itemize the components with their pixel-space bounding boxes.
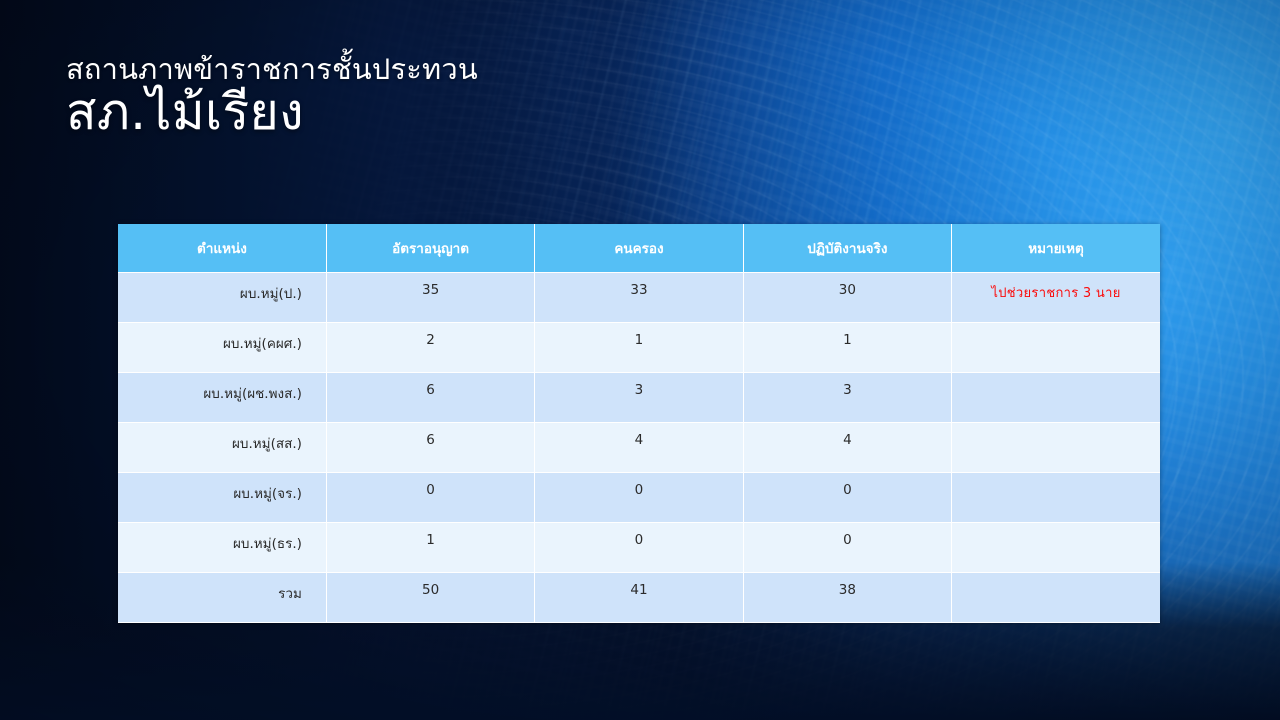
column-header-position: ตำแหน่ง xyxy=(118,224,326,272)
slide-subtitle: สถานภาพข้าราชการชั้นประทวน xyxy=(66,52,478,86)
cell-filled: 33 xyxy=(535,272,743,322)
cell-remarks xyxy=(952,422,1160,472)
column-header-remarks: หมายเหตุ xyxy=(952,224,1160,272)
cell-allowed: 1 xyxy=(326,522,534,572)
cell-filled: 41 xyxy=(535,572,743,622)
table-row: ผบ.หมู่(ธร.)100 xyxy=(118,522,1160,572)
slide-title: สภ.ไม้เรียง xyxy=(66,84,478,142)
table-row: รวม504138 xyxy=(118,572,1160,622)
cell-actual-duty: 1 xyxy=(743,322,951,372)
cell-position: ผบ.หมู่(คผศ.) xyxy=(118,322,326,372)
column-header-filled: คนครอง xyxy=(535,224,743,272)
title-block: สถานภาพข้าราชการชั้นประทวน สภ.ไม้เรียง xyxy=(66,52,478,142)
personnel-table: ตำแหน่ง อัตราอนุญาต คนครอง ปฏิบัติงานจริ… xyxy=(118,224,1160,623)
cell-filled: 4 xyxy=(535,422,743,472)
cell-filled: 1 xyxy=(535,322,743,372)
cell-remarks xyxy=(952,472,1160,522)
cell-allowed: 2 xyxy=(326,322,534,372)
cell-position: ผบ.หมู่(ผช.พงส.) xyxy=(118,372,326,422)
cell-position: ผบ.หมู่(ธร.) xyxy=(118,522,326,572)
personnel-table-container: ตำแหน่ง อัตราอนุญาต คนครอง ปฏิบัติงานจริ… xyxy=(118,224,1160,623)
slide-canvas: สถานภาพข้าราชการชั้นประทวน สภ.ไม้เรียง ต… xyxy=(0,0,1280,720)
cell-position: ผบ.หมู่(ป.) xyxy=(118,272,326,322)
cell-position: ผบ.หมู่(จร.) xyxy=(118,472,326,522)
cell-allowed: 35 xyxy=(326,272,534,322)
cell-remarks xyxy=(952,372,1160,422)
cell-actual-duty: 0 xyxy=(743,522,951,572)
cell-allowed: 50 xyxy=(326,572,534,622)
table-row: ผบ.หมู่(คผศ.)211 xyxy=(118,322,1160,372)
cell-allowed: 6 xyxy=(326,372,534,422)
cell-actual-duty: 0 xyxy=(743,472,951,522)
cell-actual-duty: 4 xyxy=(743,422,951,472)
table-row: ผบ.หมู่(ผช.พงส.)633 xyxy=(118,372,1160,422)
table-row: ผบ.หมู่(ป.)353330ไปช่วยราชการ 3 นาย xyxy=(118,272,1160,322)
table-row: ผบ.หมู่(จร.)000 xyxy=(118,472,1160,522)
header-row: ตำแหน่ง อัตราอนุญาต คนครอง ปฏิบัติงานจริ… xyxy=(118,224,1160,272)
cell-position: ผบ.หมู่(สส.) xyxy=(118,422,326,472)
cell-actual-duty: 30 xyxy=(743,272,951,322)
cell-filled: 0 xyxy=(535,472,743,522)
cell-position: รวม xyxy=(118,572,326,622)
table-body: ผบ.หมู่(ป.)353330ไปช่วยราชการ 3 นายผบ.หม… xyxy=(118,272,1160,622)
cell-remarks xyxy=(952,572,1160,622)
cell-remarks: ไปช่วยราชการ 3 นาย xyxy=(952,272,1160,322)
cell-allowed: 6 xyxy=(326,422,534,472)
cell-allowed: 0 xyxy=(326,472,534,522)
cell-filled: 3 xyxy=(535,372,743,422)
cell-remarks xyxy=(952,522,1160,572)
column-header-allowed: อัตราอนุญาต xyxy=(326,224,534,272)
cell-actual-duty: 38 xyxy=(743,572,951,622)
cell-actual-duty: 3 xyxy=(743,372,951,422)
column-header-actual-duty: ปฏิบัติงานจริง xyxy=(743,224,951,272)
cell-remarks xyxy=(952,322,1160,372)
table-header: ตำแหน่ง อัตราอนุญาต คนครอง ปฏิบัติงานจริ… xyxy=(118,224,1160,272)
table-row: ผบ.หมู่(สส.)644 xyxy=(118,422,1160,472)
cell-filled: 0 xyxy=(535,522,743,572)
